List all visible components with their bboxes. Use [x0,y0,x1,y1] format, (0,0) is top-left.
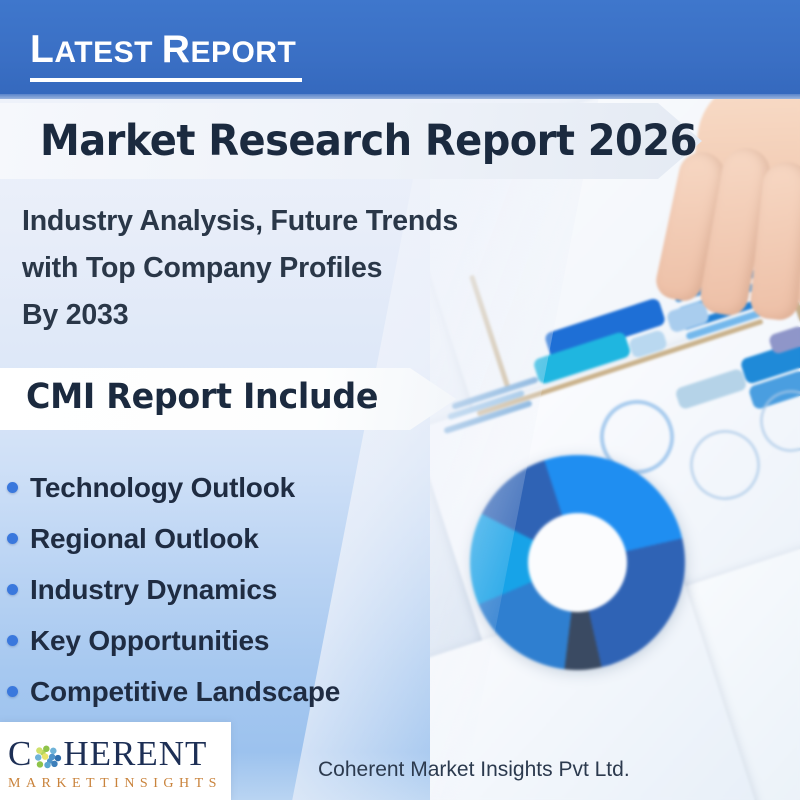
list-item-label: Technology Outlook [30,472,295,504]
list-item: Technology Outlook [0,462,420,513]
subtitle-line-1: Industry Analysis, Future Trends [22,198,562,245]
list-item-label: Key Opportunities [30,625,269,657]
eyebrow-eport: EPORT [190,36,296,69]
list-item: Industry Dynamics [0,564,420,615]
eyebrow-cap-r: R [162,28,191,71]
logo-letter-c: C [8,734,32,774]
list-item: Regional Outlook [0,513,420,564]
subtitle-line-3: By 2033 [22,292,562,339]
logo-card: CHERENT MARKETTINSIGHTS [0,722,231,800]
eyebrow-atest: ATEST [54,36,161,69]
subtitle-block: Industry Analysis, Future Trends with To… [22,198,562,339]
footer-company-name: Coherent Market Insights Pvt Ltd. [318,758,630,782]
logo-tagline: MARKETTINSIGHTS [8,776,222,792]
list-item-label: Industry Dynamics [30,574,277,606]
bullet-dot-icon [7,482,18,493]
bullet-dot-icon [7,686,18,697]
report-poster: LATEST REPORT Market Research Report 202… [0,0,800,800]
report-includes-list: Technology Outlook Regional Outlook Indu… [0,462,420,717]
header-sheen [0,94,800,99]
list-item-label: Regional Outlook [30,523,259,555]
eyebrow-latest-report: LATEST REPORT [30,30,302,82]
bullet-dot-icon [7,584,18,595]
section-banner-label: CMI Report Include [26,377,378,417]
page-title: Market Research Report 2026 [40,112,654,170]
eyebrow-cap-l: L [30,28,54,71]
globe-icon [33,743,62,772]
bullet-dot-icon [7,635,18,646]
logo-wordmark: CHERENT [8,734,207,774]
list-item: Key Opportunities [0,615,420,666]
logo-letters-herent: HERENT [63,734,207,774]
list-item-label: Competitive Landscape [30,676,340,708]
bullet-dot-icon [7,533,18,544]
subtitle-line-2: with Top Company Profiles [22,245,562,292]
list-item: Competitive Landscape [0,666,420,717]
